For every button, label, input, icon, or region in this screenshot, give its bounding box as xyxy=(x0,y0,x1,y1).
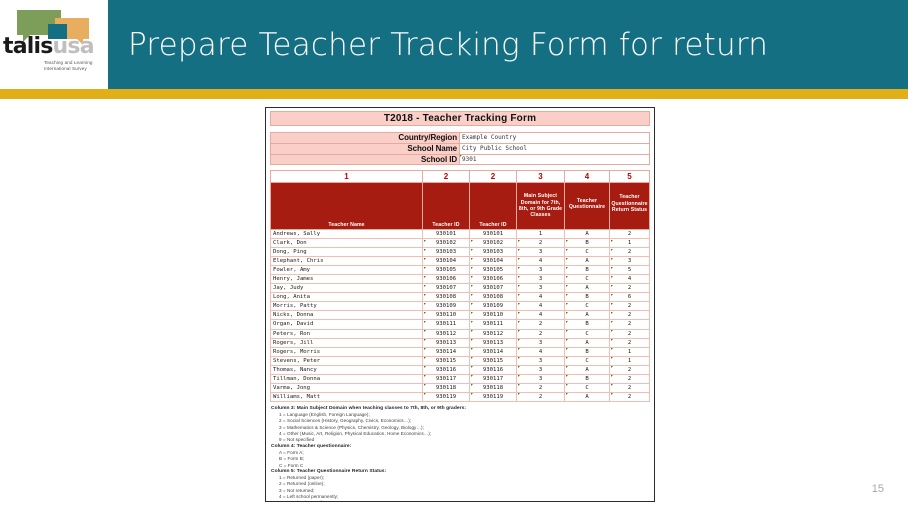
table-cell-id2: 930117 xyxy=(470,375,517,384)
form-info-label: School Name xyxy=(270,143,460,154)
table-row: Organ, David9301119301112B2 xyxy=(270,320,650,329)
title-band: Prepare Teacher Tracking Form for return xyxy=(108,0,908,89)
table-cell-name: Nicks, Donna xyxy=(270,311,423,320)
form-info-value: 9301 xyxy=(460,154,650,165)
column-number: 1 xyxy=(270,170,423,183)
table-cell-id1: 930106 xyxy=(423,275,470,284)
teacher-tracking-form-image: T2018 - Teacher Tracking Form Country/Re… xyxy=(265,107,655,502)
table-cell-questionnaire: C xyxy=(565,275,610,284)
talis-usa-logo: talisusa Teaching and Learning Internati… xyxy=(0,0,108,89)
table-cell-name: Stevens, Peter xyxy=(270,357,423,366)
page-title: Prepare Teacher Tracking Form for return xyxy=(128,27,768,63)
table-cell-status: 2 xyxy=(610,393,650,402)
table-row: Varma, Jong9301189301182C2 xyxy=(270,384,650,393)
table-cell-status: 6 xyxy=(610,293,650,302)
table-row: Thomas, Nancy9301169301163A2 xyxy=(270,366,650,375)
column-header: Main Subject Domain for 7th, 8th, or 9th… xyxy=(517,183,565,230)
table-cell-id2: 930106 xyxy=(470,275,517,284)
form-info-row: School ID9301 xyxy=(270,154,650,165)
table-cell-id1: 930113 xyxy=(423,339,470,348)
table-cell-id1: 930107 xyxy=(423,284,470,293)
column-header: Teacher Questionnaire Return Status xyxy=(610,183,650,230)
table-cell-id2: 930102 xyxy=(470,239,517,248)
table-cell-questionnaire: A xyxy=(565,366,610,375)
table-cell-id2: 930111 xyxy=(470,320,517,329)
table-cell-questionnaire: A xyxy=(565,339,610,348)
table-cell-id1: 930101 xyxy=(423,230,470,239)
table-cell-domain: 3 xyxy=(517,275,565,284)
table-cell-id2: 930118 xyxy=(470,384,517,393)
form-info-label: Country/Region xyxy=(270,132,460,143)
table-cell-domain: 4 xyxy=(517,293,565,302)
table-cell-id1: 930117 xyxy=(423,375,470,384)
table-cell-questionnaire: C xyxy=(565,384,610,393)
column-number: 2 xyxy=(470,170,517,183)
table-cell-questionnaire: A xyxy=(565,230,610,239)
table-cell-questionnaire: B xyxy=(565,348,610,357)
table-cell-status: 2 xyxy=(610,320,650,329)
table-cell-name: Clark, Don xyxy=(270,239,423,248)
table-cell-status: 2 xyxy=(610,330,650,339)
column-header: Teacher ID xyxy=(423,183,470,230)
column-number: 2 xyxy=(423,170,470,183)
table-cell-id1: 930116 xyxy=(423,366,470,375)
table-cell-id1: 930103 xyxy=(423,248,470,257)
table-cell-id2: 930113 xyxy=(470,339,517,348)
table-cell-name: Williams, Matt xyxy=(270,393,423,402)
table-cell-status: 4 xyxy=(610,275,650,284)
table-cell-questionnaire: C xyxy=(565,330,610,339)
table-cell-id1: 930118 xyxy=(423,384,470,393)
table-cell-id2: 930114 xyxy=(470,348,517,357)
table-cell-id1: 930119 xyxy=(423,393,470,402)
form-legend: Column 3: Main Subject Domain when teach… xyxy=(270,406,650,502)
table-cell-name: Andrews, Sally xyxy=(270,230,423,239)
table-cell-name: Fowler, Amy xyxy=(270,266,423,275)
table-cell-status: 2 xyxy=(610,375,650,384)
table-cell-questionnaire: B xyxy=(565,375,610,384)
table-cell-domain: 2 xyxy=(517,393,565,402)
table-cell-domain: 3 xyxy=(517,366,565,375)
table-cell-questionnaire: B xyxy=(565,293,610,302)
table-cell-domain: 4 xyxy=(517,348,565,357)
table-row: Jay, Judy9301079301073A2 xyxy=(270,284,650,293)
table-cell-name: Rogers, Morris xyxy=(270,348,423,357)
form-info-value: City Public School xyxy=(460,143,650,154)
column-header: Teacher Name xyxy=(270,183,423,230)
table-cell-status: 2 xyxy=(610,339,650,348)
table-cell-questionnaire: A xyxy=(565,393,610,402)
form-info-row: School NameCity Public School xyxy=(270,143,650,154)
table-cell-domain: 3 xyxy=(517,375,565,384)
table-cell-status: 5 xyxy=(610,266,650,275)
table-row: Henry, James9301069301063C4 xyxy=(270,275,650,284)
table-cell-questionnaire: A xyxy=(565,257,610,266)
table-cell-id1: 930109 xyxy=(423,302,470,311)
table-cell-name: Elephant, Chris xyxy=(270,257,423,266)
table-cell-name: Thomas, Nancy xyxy=(270,366,423,375)
table-cell-id2: 930103 xyxy=(470,248,517,257)
table-cell-domain: 4 xyxy=(517,257,565,266)
column-number-strip: 122345 xyxy=(270,170,650,183)
table-row: Andrews, Sally9301019301011A2 xyxy=(270,230,650,239)
table-cell-id1: 930114 xyxy=(423,348,470,357)
table-row: Long, Anita9301089301084B6 xyxy=(270,293,650,302)
table-cell-questionnaire: A xyxy=(565,311,610,320)
table-row: Rogers, Jill9301139301133A2 xyxy=(270,339,650,348)
table-cell-questionnaire: B xyxy=(565,320,610,329)
column-header: Teacher ID xyxy=(470,183,517,230)
table-cell-name: Tillman, Donna xyxy=(270,375,423,384)
table-cell-id1: 930105 xyxy=(423,266,470,275)
table-cell-status: 1 xyxy=(610,357,650,366)
table-cell-questionnaire: C xyxy=(565,302,610,311)
table-cell-id2: 930115 xyxy=(470,357,517,366)
table-row: Morris, Patty9301099301094C2 xyxy=(270,302,650,311)
column-number: 5 xyxy=(610,170,650,183)
logo-wordmark-usa: usa xyxy=(53,34,94,59)
gold-divider xyxy=(0,89,908,99)
legend-item: 5 = Teacher is out-of-scope; xyxy=(271,500,650,502)
table-cell-id1: 930102 xyxy=(423,239,470,248)
table-cell-questionnaire: C xyxy=(565,248,610,257)
table-cell-name: Dong, Ping xyxy=(270,248,423,257)
table-row: Nicks, Donna9301109301104A2 xyxy=(270,311,650,320)
table-cell-domain: 3 xyxy=(517,248,565,257)
table-cell-questionnaire: C xyxy=(565,357,610,366)
logo-wordmark-talis: talis xyxy=(3,34,53,59)
table-cell-id2: 930107 xyxy=(470,284,517,293)
table-row: Clark, Don9301029301022B1 xyxy=(270,239,650,248)
table-cell-id1: 930111 xyxy=(423,320,470,329)
table-cell-id2: 930104 xyxy=(470,257,517,266)
form-info-value: Example Country xyxy=(460,132,650,143)
table-cell-domain: 2 xyxy=(517,384,565,393)
table-cell-status: 3 xyxy=(610,257,650,266)
table-cell-name: Rogers, Jill xyxy=(270,339,423,348)
table-cell-status: 2 xyxy=(610,311,650,320)
table-row: Rogers, Morris9301149301144B1 xyxy=(270,348,650,357)
table-row: Dong, Ping9301039301033C2 xyxy=(270,248,650,257)
table-row: Elephant, Chris9301049301044A3 xyxy=(270,257,650,266)
table-cell-id2: 930116 xyxy=(470,366,517,375)
table-cell-id2: 930119 xyxy=(470,393,517,402)
table-row: Peters, Ron9301129301122C2 xyxy=(270,330,650,339)
table-cell-id2: 930112 xyxy=(470,330,517,339)
table-cell-domain: 3 xyxy=(517,339,565,348)
table-cell-status: 2 xyxy=(610,284,650,293)
table-cell-name: Morris, Patty xyxy=(270,302,423,311)
table-cell-status: 2 xyxy=(610,366,650,375)
table-cell-id2: 930105 xyxy=(470,266,517,275)
table-cell-domain: 2 xyxy=(517,330,565,339)
table-cell-domain: 3 xyxy=(517,357,565,366)
table-cell-name: Peters, Ron xyxy=(270,330,423,339)
table-cell-domain: 2 xyxy=(517,320,565,329)
table-cell-status: 1 xyxy=(610,348,650,357)
logo-wordmark: talisusa xyxy=(3,38,105,56)
table-cell-domain: 2 xyxy=(517,239,565,248)
table-cell-name: Varma, Jong xyxy=(270,384,423,393)
slide-header: Prepare Teacher Tracking Form for return… xyxy=(0,0,908,96)
column-header-strip: Teacher NameTeacher IDTeacher IDMain Sub… xyxy=(270,183,650,230)
table-row: Fowler, Amy9301059301053B5 xyxy=(270,266,650,275)
table-cell-name: Jay, Judy xyxy=(270,284,423,293)
table-cell-id1: 930112 xyxy=(423,330,470,339)
table-cell-status: 1 xyxy=(610,239,650,248)
table-cell-name: Long, Anita xyxy=(270,293,423,302)
table-row: Stevens, Peter9301159301153C1 xyxy=(270,357,650,366)
form-info-label: School ID xyxy=(270,154,460,165)
column-header: Teacher Questionnaire xyxy=(565,183,610,230)
table-cell-name: Henry, James xyxy=(270,275,423,284)
table-cell-id2: 930101 xyxy=(470,230,517,239)
table-row: Tillman, Donna9301179301173B2 xyxy=(270,375,650,384)
table-cell-domain: 3 xyxy=(517,266,565,275)
form-info-block: Country/RegionExample CountrySchool Name… xyxy=(270,132,650,165)
table-cell-id2: 930109 xyxy=(470,302,517,311)
column-number: 3 xyxy=(517,170,565,183)
table-cell-id1: 930104 xyxy=(423,257,470,266)
teacher-rows: Andrews, Sally9301019301011A2Clark, Don9… xyxy=(270,230,650,402)
table-cell-id2: 930110 xyxy=(470,311,517,320)
table-cell-domain: 1 xyxy=(517,230,565,239)
table-cell-id1: 930108 xyxy=(423,293,470,302)
column-number: 4 xyxy=(565,170,610,183)
form-title: T2018 - Teacher Tracking Form xyxy=(270,111,650,126)
table-cell-status: 2 xyxy=(610,384,650,393)
table-cell-questionnaire: B xyxy=(565,239,610,248)
table-cell-domain: 4 xyxy=(517,302,565,311)
table-cell-status: 2 xyxy=(610,230,650,239)
table-row: Williams, Matt9301199301192A2 xyxy=(270,393,650,402)
table-cell-domain: 4 xyxy=(517,311,565,320)
table-cell-id2: 930108 xyxy=(470,293,517,302)
table-cell-questionnaire: B xyxy=(565,266,610,275)
table-cell-status: 2 xyxy=(610,248,650,257)
slide-page-number: 15 xyxy=(872,483,884,495)
form-info-row: Country/RegionExample Country xyxy=(270,132,650,143)
table-cell-questionnaire: A xyxy=(565,284,610,293)
table-cell-id1: 930115 xyxy=(423,357,470,366)
table-cell-name: Organ, David xyxy=(270,320,423,329)
table-cell-domain: 3 xyxy=(517,284,565,293)
table-cell-status: 2 xyxy=(610,302,650,311)
logo-tagline: Teaching and Learning International Surv… xyxy=(44,60,108,72)
table-cell-id1: 930110 xyxy=(423,311,470,320)
